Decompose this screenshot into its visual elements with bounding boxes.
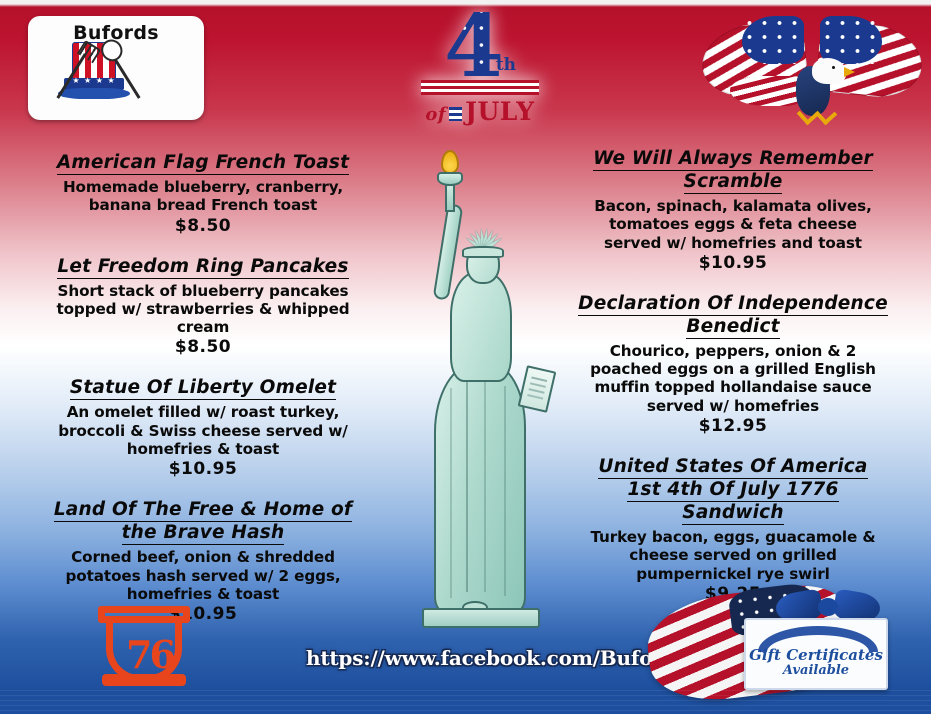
menu-item-description: Turkey bacon, eggs, guacamole & cheese s… (578, 528, 888, 583)
menu-item-price: $8.50 (48, 216, 358, 236)
bufords-logo-card: Bufords (28, 16, 204, 120)
facebook-url[interactable]: https://www.facebook.com/BufordsGrotonCT (306, 646, 656, 670)
menu-item-description: Corned beef, onion & shredded potatoes h… (48, 548, 358, 603)
menu-item-description: An omelet filled w/ roast turkey, brocco… (48, 403, 358, 458)
menu-item: Declaration Of IndependenceBenedict Chou… (578, 293, 888, 436)
liberty-bell-icon: 76 (92, 600, 196, 706)
fourth-of-july-graphic: 4th ofJULY (392, 8, 568, 136)
menu-item-name: Land Of The Free & Home ofthe Brave Hash (48, 499, 358, 545)
menu-column-right: We Will Always RememberScramble Bacon, s… (578, 148, 888, 604)
holiday-month: JULY (465, 97, 534, 126)
gift-certificate-card: Gift Certificates Available (744, 618, 888, 690)
crown-icon (452, 224, 514, 258)
menu-item-description: Chourico, peppers, onion & 2 poached egg… (578, 342, 888, 415)
bell-year-label: 76 (126, 636, 173, 674)
menu-item-price: $8.50 (48, 337, 358, 357)
menu-item: American Flag French Toast Homemade blue… (48, 152, 358, 236)
menu-column-left: American Flag French Toast Homemade blue… (48, 152, 358, 624)
holiday-of-word: of (425, 104, 446, 125)
holiday-ordinal: th (496, 55, 516, 75)
menu-item: Statue Of Liberty Omelet An omelet fille… (48, 377, 358, 479)
menu-item: United States Of America1st 4th Of July … (578, 456, 888, 604)
menu-item-name: Let Freedom Ring Pancakes (48, 256, 358, 279)
menu-item-name: Declaration Of IndependenceBenedict (578, 293, 888, 339)
menu-item-description: Bacon, spinach, kalamata olives, tomatoe… (578, 197, 888, 252)
menu-item-price: $10.95 (578, 253, 888, 273)
gift-certificates-line2: Available (783, 664, 849, 679)
statue-of-liberty-icon (404, 140, 560, 628)
menu-item-price: $10.95 (48, 459, 358, 479)
july-4th-menu-poster: Bufords 4th ofJULY (0, 0, 931, 714)
menu-item: Let Freedom Ring Pancakes Short stack of… (48, 256, 358, 358)
menu-item-description: Short stack of blueberry pancakes topped… (48, 282, 358, 337)
menu-item-name: We Will Always RememberScramble (578, 148, 888, 194)
menu-item-name: American Flag French Toast (48, 152, 358, 175)
ribbon-arc-icon (758, 626, 878, 652)
menu-item-description: Homemade blueberry, cranberry, banana br… (48, 178, 358, 214)
menu-item-name: Statue Of Liberty Omelet (48, 377, 358, 400)
american-flag-eagle-icon (700, 10, 924, 130)
menu-item-name: United States Of America1st 4th Of July … (578, 456, 888, 525)
menu-item: We Will Always RememberScramble Bacon, s… (578, 148, 888, 273)
holiday-number: 4 (444, 8, 502, 86)
flag-stripes-small-icon (449, 107, 462, 121)
menu-item-price: $12.95 (578, 416, 888, 436)
gift-certificates-badge: Gift Certificates Available (648, 588, 912, 708)
